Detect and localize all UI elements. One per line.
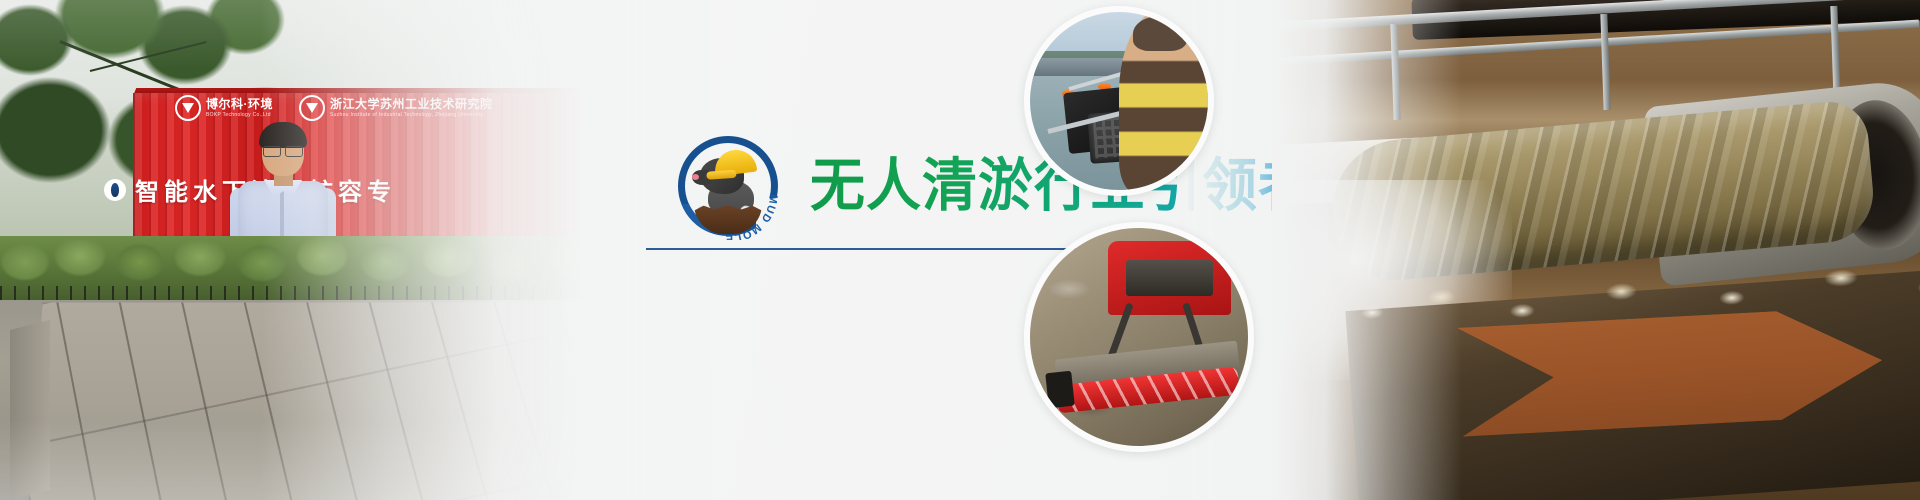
partner-lockup: 浙江大学苏州工业技术研究院 Suzhou Institute of Indust… [299, 95, 493, 121]
bokp-logo-icon [175, 95, 201, 121]
partner-name-en: Suzhou Institute of Industrial Technolog… [330, 112, 493, 118]
operator-hair [1133, 16, 1186, 52]
brand-lockup: 博尔科·环境 BOKP Technology Co.,Ltd [175, 95, 273, 121]
hair [259, 122, 307, 148]
left-photo: 博尔科·环境 BOKP Technology Co.,Ltd 浙江大学苏州工业技… [0, 0, 620, 500]
curb [10, 320, 50, 500]
paver-walkway [29, 303, 620, 500]
partner-name-cn: 浙江大学苏州工业技术研究院 [330, 98, 493, 111]
university-logo-icon [299, 95, 325, 121]
container-brand-signage: 博尔科·环境 BOKP Technology Co.,Ltd 浙江大学苏州工业技… [175, 88, 535, 128]
water-drop-icon [104, 179, 126, 201]
right-photo-backdrop [1272, 0, 1920, 500]
inset-photo-dredging-robot [1024, 222, 1254, 452]
logo-arc-text-icon: MUD MOLE [674, 132, 782, 240]
brand-name-cn: 博尔科·环境 [206, 98, 273, 111]
mud-mole-logo: MUD MOLE [674, 132, 782, 240]
auger-gearbox [1046, 371, 1076, 408]
brand-name-en: BOKP Technology Co.,Ltd [206, 112, 273, 118]
svg-text:MUD MOLE: MUD MOLE [724, 194, 779, 240]
inset-photo-operator [1024, 6, 1214, 196]
hero-banner: 博尔科·环境 BOKP Technology Co.,Ltd 浙江大学苏州工业技… [0, 0, 1920, 500]
eyeglasses-icon [263, 146, 303, 155]
